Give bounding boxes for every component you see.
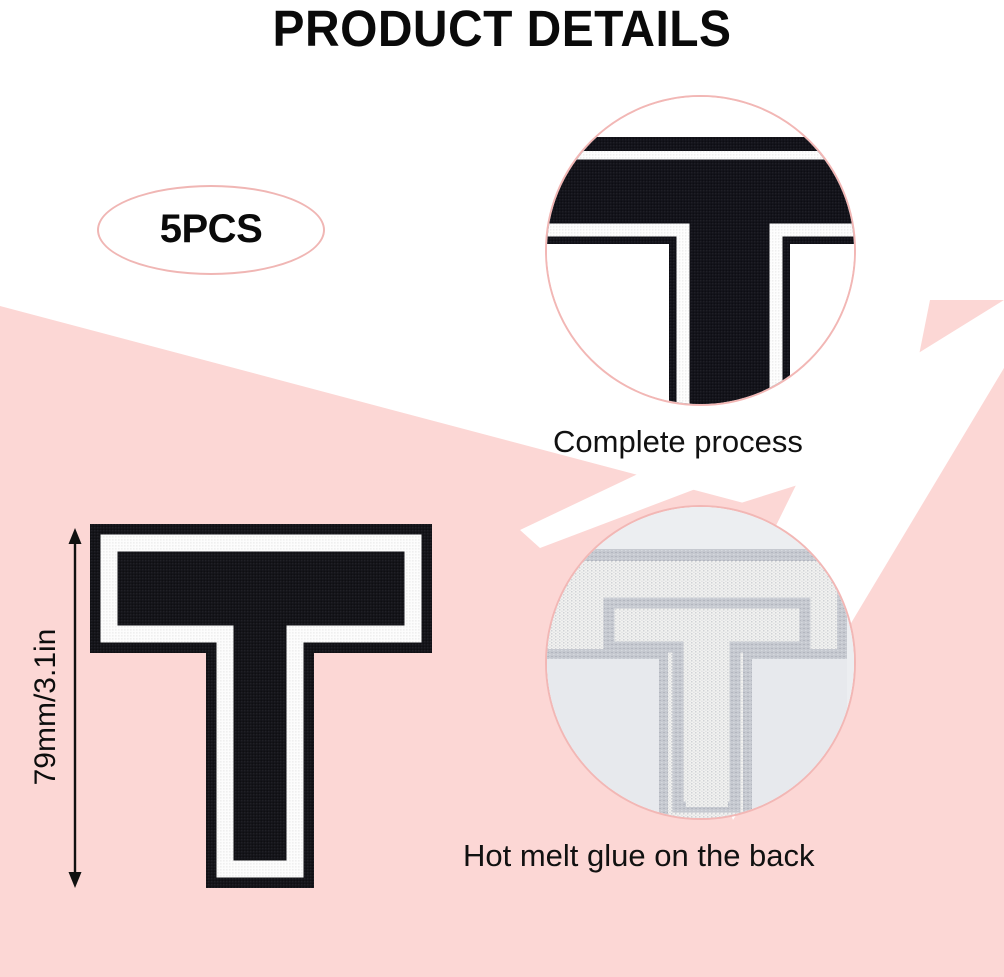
inset-hot-melt-glue bbox=[545, 505, 856, 820]
dimension-arrow bbox=[62, 528, 88, 888]
product-detail-image: PRODUCT DETAILS 5PCS bbox=[0, 0, 1004, 977]
caption-hot-melt-glue: Hot melt glue on the back bbox=[463, 838, 815, 874]
dimension-label: 79mm/3.1in bbox=[29, 557, 63, 857]
patch-back-closeup-image bbox=[547, 507, 856, 820]
hero-patch-image bbox=[82, 515, 440, 897]
page-title: PRODUCT DETAILS bbox=[30, 2, 974, 56]
caption-complete-process: Complete process bbox=[553, 424, 803, 460]
quantity-badge: 5PCS bbox=[97, 185, 325, 275]
quantity-badge-label: 5PCS bbox=[160, 207, 263, 252]
inset-complete-process bbox=[545, 95, 856, 406]
patch-front-closeup-image bbox=[547, 97, 856, 406]
